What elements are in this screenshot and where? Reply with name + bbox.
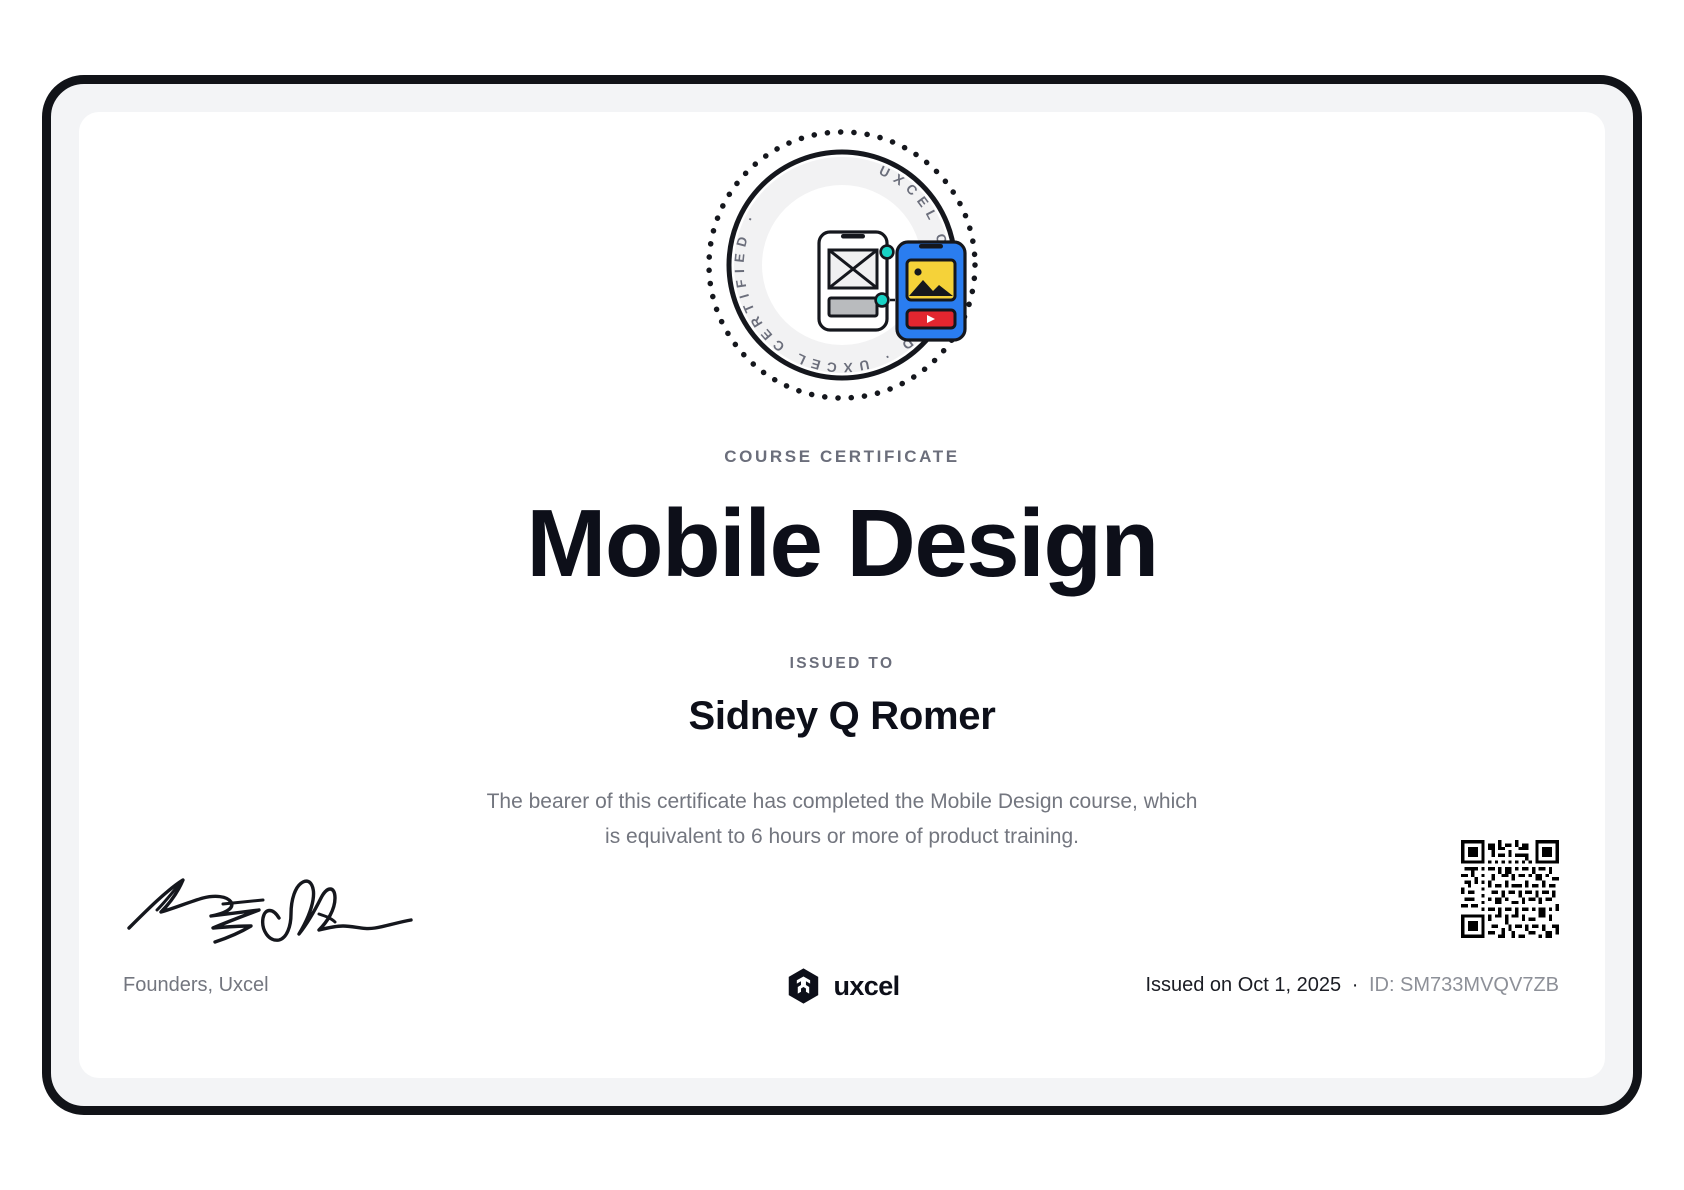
- certificate-type-label: COURSE CERTIFICATE: [79, 447, 1605, 467]
- issued-on-date: Issued on Oct 1, 2025: [1145, 974, 1341, 996]
- uxcel-hexagon-icon: [784, 967, 822, 1005]
- qr-code-icon: [1461, 840, 1559, 938]
- certificate-description: The bearer of this certificate has compl…: [412, 784, 1272, 855]
- recipient-name: Sidney Q Romer: [79, 694, 1605, 739]
- verification-qr-code[interactable]: [1461, 840, 1559, 938]
- issue-info-separator: ·: [1352, 974, 1359, 996]
- description-line-2: is equivalent to 6 hours or more of prod…: [605, 825, 1079, 848]
- course-title: Mobile Design: [79, 490, 1605, 598]
- certificate-card: UXCEL CERTIFIED · UXCEL CERTIFIED ·: [79, 112, 1605, 1078]
- credential-id: ID: SM733MVQV7ZB: [1369, 974, 1559, 996]
- certificate-frame: UXCEL CERTIFIED · UXCEL CERTIFIED ·: [42, 75, 1642, 1115]
- badge-seal-icon: UXCEL CERTIFIED · UXCEL CERTIFIED ·: [701, 124, 983, 406]
- description-line-1: The bearer of this certificate has compl…: [487, 790, 1198, 813]
- issue-info: Issued on Oct 1, 2025 · ID: SM733MVQV7ZB: [1145, 974, 1559, 997]
- issued-to-label: ISSUED TO: [79, 655, 1605, 673]
- signature-icon: [123, 852, 423, 952]
- uxcel-wordmark: uxcel: [833, 971, 899, 1002]
- founders-label: Founders, Uxcel: [123, 974, 269, 997]
- uxcel-certified-badge: UXCEL CERTIFIED · UXCEL CERTIFIED ·: [701, 124, 983, 406]
- uxcel-brand-logo: uxcel: [784, 967, 899, 1005]
- founder-signatures: [123, 852, 453, 962]
- certificate-page: UXCEL CERTIFIED · UXCEL CERTIFIED ·: [0, 0, 1684, 1190]
